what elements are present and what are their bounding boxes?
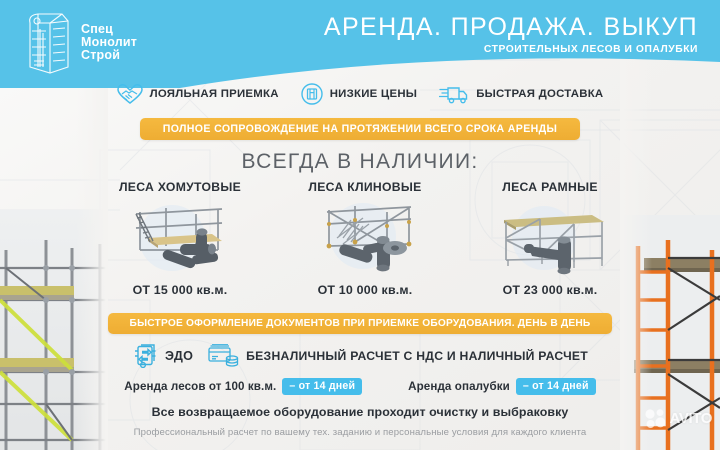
building-crane-logo-icon [22, 9, 74, 75]
avito-logo-icon [645, 408, 667, 428]
term-text: Аренда опалубки [408, 380, 510, 393]
product-price: ОТ 10 000 кв.м. [277, 283, 453, 297]
payment-label: БЕЗНАЛИЧНЫЙ РАСЧЕТ С НДС И НАЛИЧНЫЙ РАСЧ… [246, 349, 588, 363]
fast-documents-banner: БЫСТРОЕ ОФОРМЛЕНИЕ ДОКУМЕНТОВ ПРИ ПРИЕМК… [108, 313, 612, 334]
fineprint-text: Профессиональный расчет по вашему тех. з… [0, 427, 720, 438]
header-title: АРЕНДА. ПРОДАЖА. ВЫКУП [324, 14, 698, 40]
benefit-label: ЛОЯЛЬНАЯ ПРИЕМКА [150, 88, 279, 100]
payment-item-edo: ЭДО [132, 344, 193, 368]
delivery-truck-icon [439, 83, 469, 105]
term-duration-badge: – от 14 дней [516, 378, 596, 395]
stock-title: ВСЕГДА В НАЛИЧИИ: [0, 150, 720, 174]
benefit-label: НИЗКИЕ ЦЕНЫ [330, 88, 418, 100]
support-banner: ПОЛНОЕ СОПРОВОЖДЕНИЕ НА ПРОТЯЖЕНИИ ВСЕГО… [140, 118, 580, 140]
company-logo[interactable]: Спец Монолит Строй [22, 9, 137, 75]
product-price: ОТ 23 000 кв.м. [462, 283, 638, 297]
wedge-scaffolding-image [277, 198, 453, 276]
term-text: Аренда лесов от 100 кв.м. [124, 380, 276, 393]
rental-terms-row: Аренда лесов от 100 кв.м. – от 14 дней А… [0, 376, 720, 396]
cleaning-note: Все возвращаемое оборудование проходит о… [0, 405, 720, 419]
benefit-item-low-prices: НИЗКИЕ ЦЕНЫ [301, 83, 418, 105]
benefit-item-loyal-acceptance: ЛОЯЛЬНАЯ ПРИЕМКА [117, 83, 279, 105]
term-duration-badge: – от 14 дней [282, 378, 362, 395]
benefits-row: ЛОЯЛЬНАЯ ПРИЕМКА НИЗКИЕ ЦЕНЫ [0, 78, 720, 110]
card-and-cash-icon [207, 344, 239, 368]
clamp-scaffolding-image [92, 198, 268, 276]
benefit-label: БЫСТРАЯ ДОСТАВКА [476, 88, 603, 100]
low-price-tag-icon [301, 83, 323, 105]
rental-term-formwork: Аренда опалубки – от 14 дней [408, 378, 596, 395]
rental-term-scaffolding: Аренда лесов от 100 кв.м. – от 14 дней [124, 378, 362, 395]
handshake-heart-icon [117, 83, 143, 105]
avito-watermark: AVITO [645, 408, 712, 428]
advertisement-banner: Спец Монолит Строй АРЕНДА. ПРОДАЖА. ВЫКУ… [0, 0, 720, 450]
product-name: ЛЕСА КЛИНОВЫЕ [277, 180, 453, 194]
benefit-item-fast-delivery: БЫСТРАЯ ДОСТАВКА [439, 83, 603, 105]
product-card-wedge[interactable]: ЛЕСА КЛИНОВЫЕ [277, 180, 453, 300]
avito-watermark-text: AVITO [670, 410, 712, 427]
logo-line-2: Монолит [81, 36, 137, 49]
payment-methods-row: ЭДО БЕЗНАЛИЧНЫЙ РАСЧЕТ С НДС И НАЛИЧНЫЙ … [0, 343, 720, 369]
payment-label: ЭДО [165, 349, 193, 363]
logo-text: Спец Монолит Строй [81, 23, 137, 62]
product-card-frame[interactable]: ЛЕСА РАМНЫЕ [462, 180, 638, 300]
frame-scaffolding-image [462, 198, 638, 276]
products-row: ЛЕСА ХОМУТОВЫЕ [92, 180, 638, 300]
product-price: ОТ 15 000 кв.м. [92, 283, 268, 297]
product-card-clamp[interactable]: ЛЕСА ХОМУТОВЫЕ [92, 180, 268, 300]
header-titles: АРЕНДА. ПРОДАЖА. ВЫКУП СТРОИТЕЛЬНЫХ ЛЕСО… [324, 14, 698, 55]
payment-item-cashless: БЕЗНАЛИЧНЫЙ РАСЧЕТ С НДС И НАЛИЧНЫЙ РАСЧ… [207, 344, 588, 368]
header-subtitle: СТРОИТЕЛЬНЫХ ЛЕСОВ И ОПАЛУБКИ [324, 44, 698, 55]
product-name: ЛЕСА РАМНЫЕ [462, 180, 638, 194]
header-banner: Спец Монолит Строй АРЕНДА. ПРОДАЖА. ВЫКУ… [0, 0, 720, 88]
edo-document-exchange-icon [132, 344, 158, 368]
product-name: ЛЕСА ХОМУТОВЫЕ [92, 180, 268, 194]
logo-line-3: Строй [81, 49, 137, 62]
logo-line-1: Спец [81, 23, 137, 36]
